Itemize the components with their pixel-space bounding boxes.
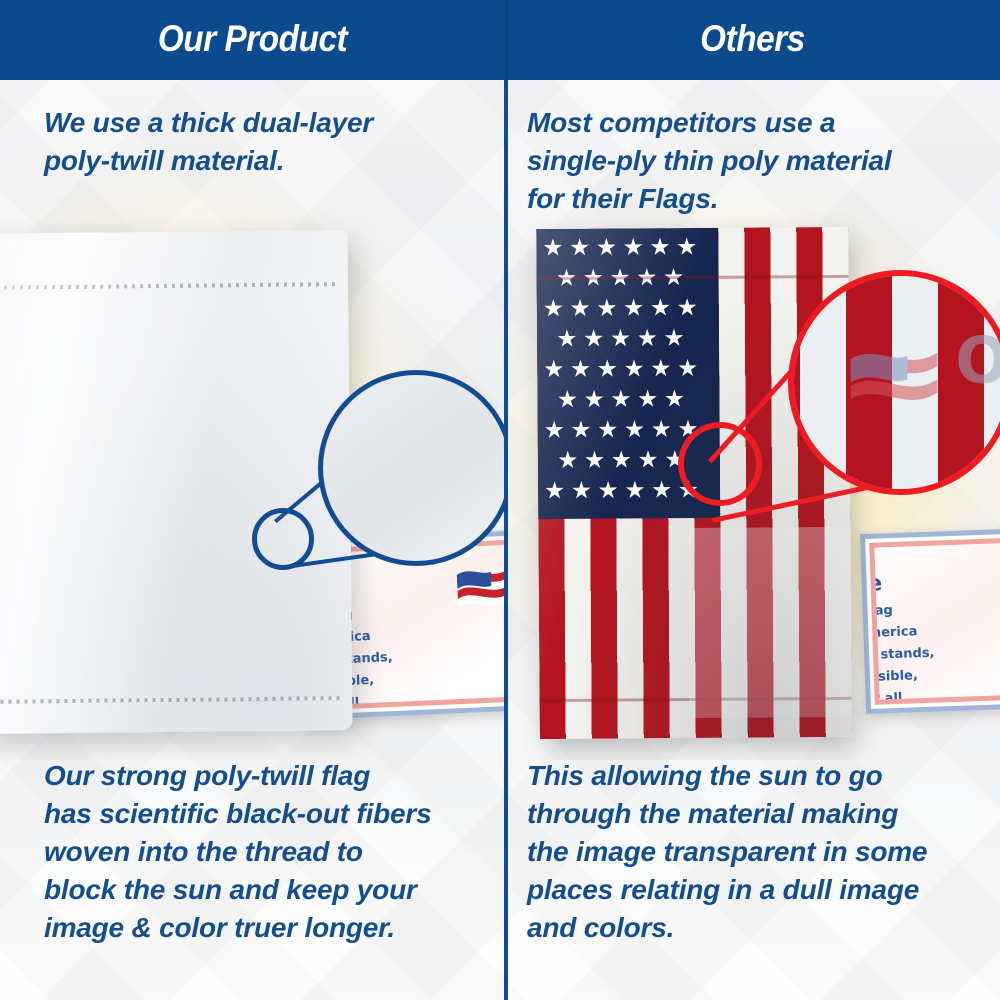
flag-star bbox=[651, 359, 670, 378]
flag-star bbox=[650, 237, 669, 256]
left-top-caption: We use a thick dual-layer poly-twill mat… bbox=[44, 104, 494, 180]
flag-star bbox=[625, 481, 644, 500]
right-top-line-3: for their Flags. bbox=[527, 180, 992, 218]
flag-star bbox=[597, 238, 616, 257]
flag-star bbox=[638, 329, 657, 348]
right-bottom-line-5: and colors. bbox=[527, 909, 995, 947]
flag-star bbox=[545, 420, 564, 439]
right-bottom-line-2: through the material making bbox=[527, 795, 995, 833]
flag-star bbox=[598, 359, 617, 378]
right-pledge-line-2: es of America bbox=[869, 624, 917, 642]
right-bottom-line-4: places relating in a dull image bbox=[527, 871, 995, 909]
flag-star bbox=[625, 420, 644, 439]
right-pledge-line-5: stice for all. bbox=[869, 691, 907, 705]
flag-star bbox=[544, 299, 563, 318]
flag-star bbox=[597, 299, 616, 318]
flag-star bbox=[678, 359, 697, 378]
right-pledge-line-3: which it stands, bbox=[869, 646, 935, 665]
header-title-our-product: Our Product bbox=[25, 0, 480, 80]
flag-star bbox=[624, 298, 643, 317]
flag-canton bbox=[536, 228, 720, 519]
flag-star bbox=[611, 329, 630, 348]
right-top-caption: Most competitors use a single-ply thin p… bbox=[527, 104, 992, 218]
white-flag-bottom-stitch bbox=[0, 696, 342, 704]
left-bottom-line-4: block the sun and keep your bbox=[44, 871, 499, 909]
header-bar: Our Product Others bbox=[0, 0, 1000, 80]
white-poly-twill-flag bbox=[0, 230, 353, 734]
right-pledge-line-1: to the flag bbox=[869, 603, 893, 621]
flag-star bbox=[571, 420, 590, 439]
right-pledge-line-4: d, indivisible, bbox=[869, 668, 918, 686]
flag-star bbox=[611, 390, 630, 409]
flag-star bbox=[665, 389, 684, 408]
left-bottom-line-3: woven into the thread to bbox=[44, 833, 499, 871]
right-pledge-title: ance bbox=[869, 571, 882, 598]
flag-star bbox=[665, 450, 684, 469]
flag-star bbox=[664, 328, 683, 347]
header-title-others: Others bbox=[530, 0, 976, 80]
right-pledge-poster: ance to the flag es of America which it … bbox=[860, 526, 1000, 714]
us-garden-flag bbox=[536, 227, 852, 739]
flag-star bbox=[678, 419, 697, 438]
flag-star bbox=[558, 390, 577, 409]
right-pledge-poster-inner: ance to the flag es of America which it … bbox=[869, 535, 1000, 704]
right-bottom-caption: This allowing the sun to go through the … bbox=[527, 757, 995, 947]
flag-star bbox=[598, 420, 617, 439]
flag-star bbox=[570, 238, 589, 257]
flag-star bbox=[585, 390, 604, 409]
right-bottom-line-3: the image transparent in some bbox=[527, 833, 995, 871]
flag-star bbox=[571, 299, 590, 318]
product-comparison-poster: Our Product Others We use a thick dual-l… bbox=[0, 0, 1000, 1000]
flag-star bbox=[545, 481, 564, 500]
flag-star bbox=[677, 237, 696, 256]
left-top-line-2: poly-twill material. bbox=[44, 142, 494, 180]
header-divider bbox=[505, 0, 508, 80]
right-top-line-1: Most competitors use a bbox=[527, 104, 992, 142]
flag-star bbox=[599, 481, 618, 500]
flag-star bbox=[652, 420, 671, 439]
flag-star bbox=[624, 238, 643, 257]
flag-star bbox=[638, 389, 657, 408]
flag-star bbox=[625, 359, 644, 378]
right-top-line-2: single-ply thin poly material bbox=[527, 142, 992, 180]
flag-star bbox=[571, 360, 590, 379]
left-product-photo: giance e to the flag tes of America r wh… bbox=[0, 80, 504, 760]
white-flag-top-stitch bbox=[0, 282, 338, 290]
flag-star bbox=[585, 451, 604, 470]
flag-star bbox=[572, 481, 591, 500]
flag-star bbox=[557, 329, 576, 348]
flag-star bbox=[652, 480, 671, 499]
left-top-line-1: We use a thick dual-layer bbox=[44, 104, 494, 142]
flag-star bbox=[584, 329, 603, 348]
flag-star bbox=[651, 298, 670, 317]
pledge-waving-flag-icon bbox=[452, 558, 504, 627]
flag-star bbox=[639, 450, 658, 469]
left-bottom-line-5: image & color truer longer. bbox=[44, 909, 499, 947]
flag-star bbox=[558, 451, 577, 470]
column-divider bbox=[504, 80, 508, 1000]
flag-star bbox=[678, 298, 697, 317]
right-bottom-line-1: This allowing the sun to go bbox=[527, 757, 995, 795]
flag-star bbox=[544, 360, 563, 379]
left-bottom-line-2: has scientific black-out fibers bbox=[44, 795, 499, 833]
flag-star bbox=[543, 238, 562, 257]
left-bottom-line-1: Our strong poly-twill flag bbox=[44, 757, 499, 795]
flag-star bbox=[679, 480, 698, 499]
left-bottom-caption: Our strong poly-twill flag has scientifi… bbox=[44, 757, 499, 947]
flag-star bbox=[612, 450, 631, 469]
